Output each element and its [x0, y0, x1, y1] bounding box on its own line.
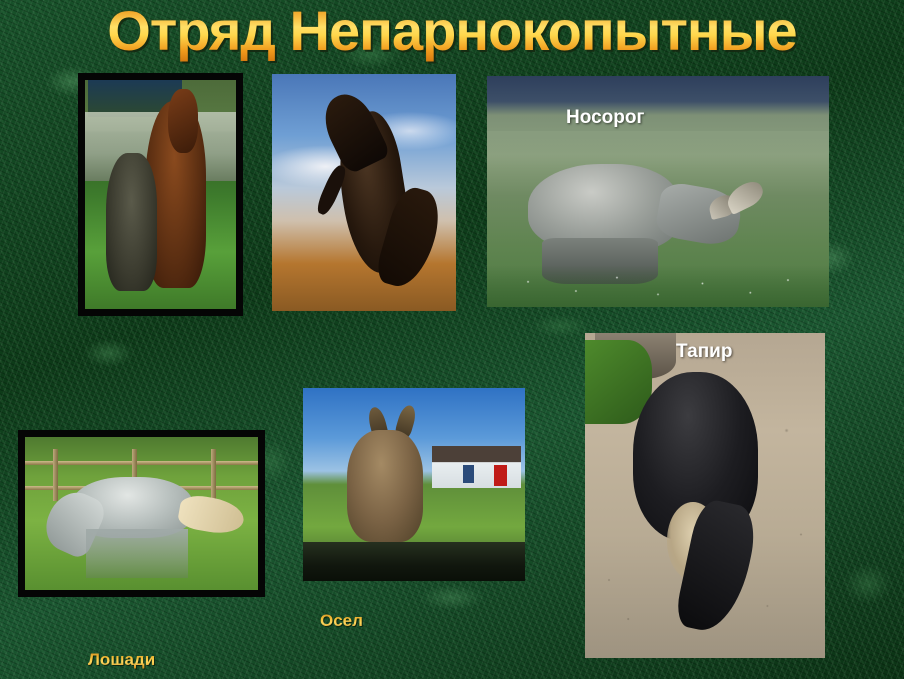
grazing-horse-photo[interactable] — [18, 430, 265, 597]
caption-donkey: Осел — [320, 611, 363, 631]
foreground-rocks — [303, 542, 525, 581]
mare-and-foal-artwork — [85, 80, 236, 309]
caption-horses: Лошади — [88, 650, 155, 670]
farmhouse — [432, 446, 521, 488]
foal-body — [106, 153, 157, 290]
donkey-photo[interactable] — [303, 388, 525, 581]
mare-head — [168, 89, 198, 153]
rhinoceros-artwork — [487, 76, 829, 307]
fence-post — [53, 449, 58, 501]
caption-rhinoceros: Носорог — [566, 107, 644, 129]
house-window — [463, 465, 474, 482]
donkey-body — [347, 430, 422, 542]
slide-canvas: Отряд Непарнокопытные — [0, 0, 904, 679]
rearing-horse-photo[interactable] — [272, 74, 456, 311]
tapir-artwork — [585, 333, 825, 658]
grazing-horse-artwork — [25, 437, 258, 590]
mare-and-foal-photo[interactable] — [78, 73, 243, 316]
meadow-flowers — [487, 265, 829, 307]
rhinoceros-photo[interactable] — [487, 76, 829, 307]
horse-legs — [86, 529, 189, 578]
donkey-artwork — [303, 388, 525, 581]
page-title: Отряд Непарнокопытные — [0, 0, 904, 64]
caption-tapir: Тапир — [676, 341, 732, 363]
house-door — [494, 465, 507, 486]
savanna-hill — [487, 131, 829, 168]
rearing-horse-artwork — [272, 74, 456, 311]
rhino-front-horn — [723, 177, 767, 214]
fence-post — [211, 449, 216, 501]
fence-rail — [25, 461, 258, 465]
tapir-photo[interactable] — [585, 333, 825, 658]
